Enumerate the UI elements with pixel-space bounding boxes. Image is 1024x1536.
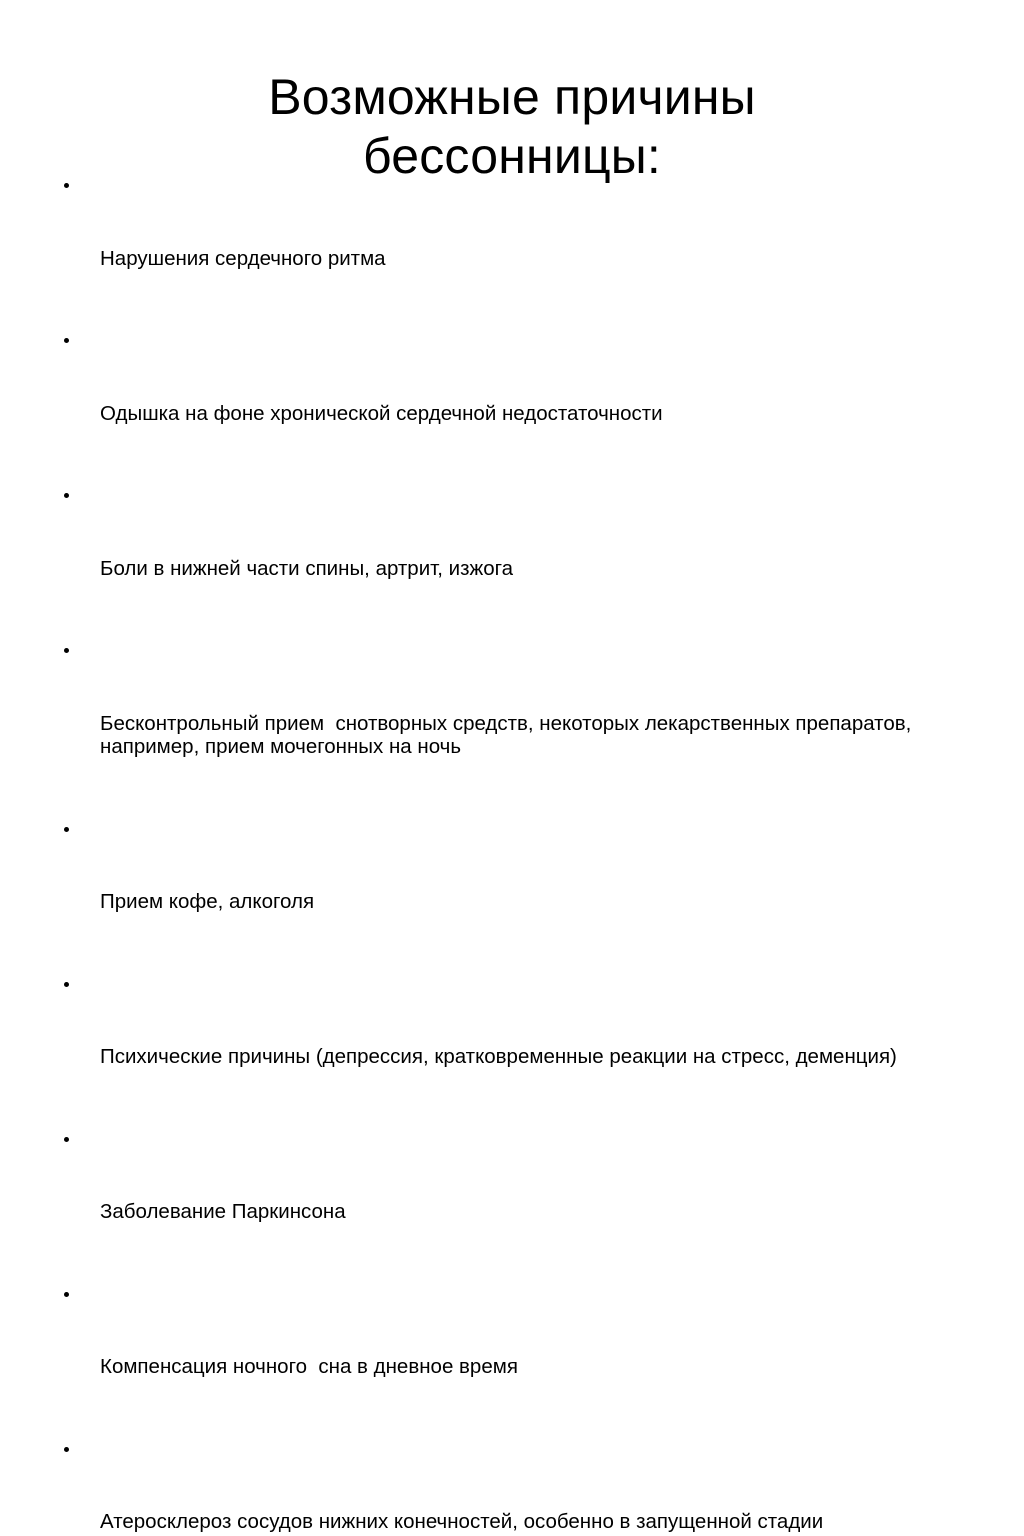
list-item-label: Психические причины (депрессия, кратковр…	[100, 1045, 976, 1069]
list-item: Боли в нижней части спины, артрит, изжог…	[56, 486, 976, 627]
list-item: Прием кофе, алкоголя	[56, 820, 976, 961]
bullet-dot-icon	[64, 493, 69, 498]
list-item: Одышка на фоне хронической сердечной нед…	[56, 331, 976, 472]
list-item: Нарушения сердечного ритма	[56, 176, 976, 317]
list-item-label: Боли в нижней части спины, артрит, изжог…	[100, 557, 976, 581]
bullet-dot-icon	[64, 1292, 69, 1297]
list-item: Атеросклероз сосудов нижних конечностей,…	[56, 1440, 976, 1536]
list-item-label: Компенсация ночного сна в дневное время	[100, 1355, 976, 1379]
bullet-dot-icon	[64, 338, 69, 343]
bullet-dot-icon	[64, 183, 69, 188]
bullet-dot-icon	[64, 648, 69, 653]
bullet-dot-icon	[64, 827, 69, 832]
list-item: Психические причины (депрессия, кратковр…	[56, 975, 976, 1116]
list-item-label: Бесконтрольный прием снотворных средств,…	[100, 712, 976, 759]
presentation-slide: Возможные причины бессонницы: Нарушения …	[0, 0, 1024, 768]
bullet-dot-icon	[64, 982, 69, 987]
bullet-dot-icon	[64, 1447, 69, 1452]
page-title: Возможные причины бессонницы:	[80, 68, 944, 186]
bullet-dot-icon	[64, 1137, 69, 1142]
list-item: Компенсация ночного сна в дневное время	[56, 1285, 976, 1426]
list-item-label: Атеросклероз сосудов нижних конечностей,…	[100, 1510, 976, 1534]
list-item: Бесконтрольный прием снотворных средств,…	[56, 641, 976, 806]
list-item-label: Заболевание Паркинсона	[100, 1200, 976, 1224]
causes-bullet-list: Нарушения сердечного ритма Одышка на фон…	[56, 176, 976, 1536]
list-item-label: Прием кофе, алкоголя	[100, 890, 976, 914]
list-item: Заболевание Паркинсона	[56, 1130, 976, 1271]
list-item-label: Нарушения сердечного ритма	[100, 247, 976, 271]
list-item-label: Одышка на фоне хронической сердечной нед…	[100, 402, 976, 426]
